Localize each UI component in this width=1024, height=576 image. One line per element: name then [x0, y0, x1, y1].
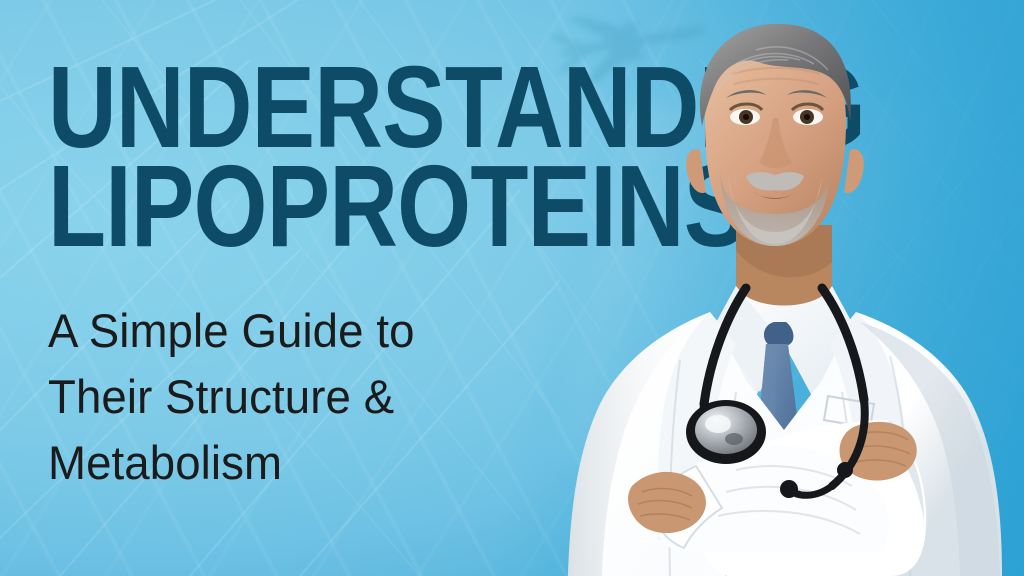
page-subtitle: A Simple Guide to Their Structure & Meta… — [48, 298, 572, 496]
subtitle-line-1: A Simple Guide to — [48, 298, 572, 364]
headline-line-2: LIPOPROTEINS — [48, 157, 491, 256]
subtitle-line-2: Their Structure & — [48, 364, 572, 430]
subtitle-line-3: Metabolism — [48, 430, 572, 496]
page-title: UNDERSTANDING LIPOPROTEINS — [48, 58, 491, 256]
promo-banner: UNDERSTANDING LIPOPROTEINS A Simple Guid… — [0, 0, 1024, 576]
copy-block: UNDERSTANDING LIPOPROTEINS A Simple Guid… — [48, 58, 588, 496]
